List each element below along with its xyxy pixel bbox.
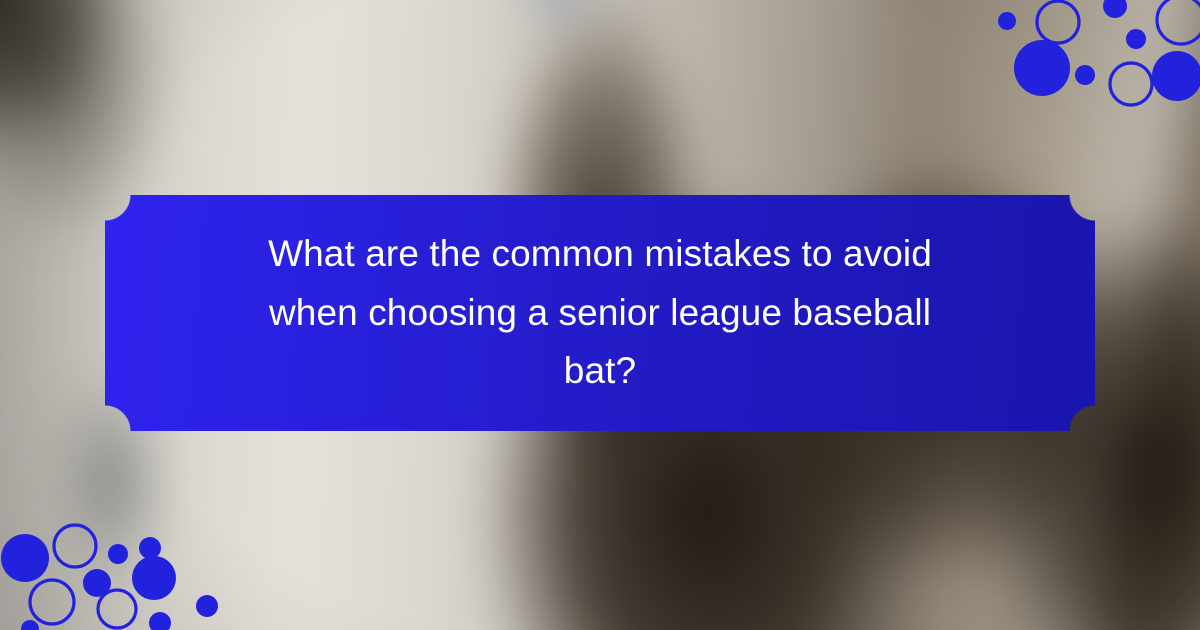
question-card: What are the common mistakes to avoid wh… bbox=[105, 195, 1095, 431]
og-card-canvas: What are the common mistakes to avoid wh… bbox=[0, 0, 1200, 630]
question-title: What are the common mistakes to avoid wh… bbox=[220, 225, 980, 400]
